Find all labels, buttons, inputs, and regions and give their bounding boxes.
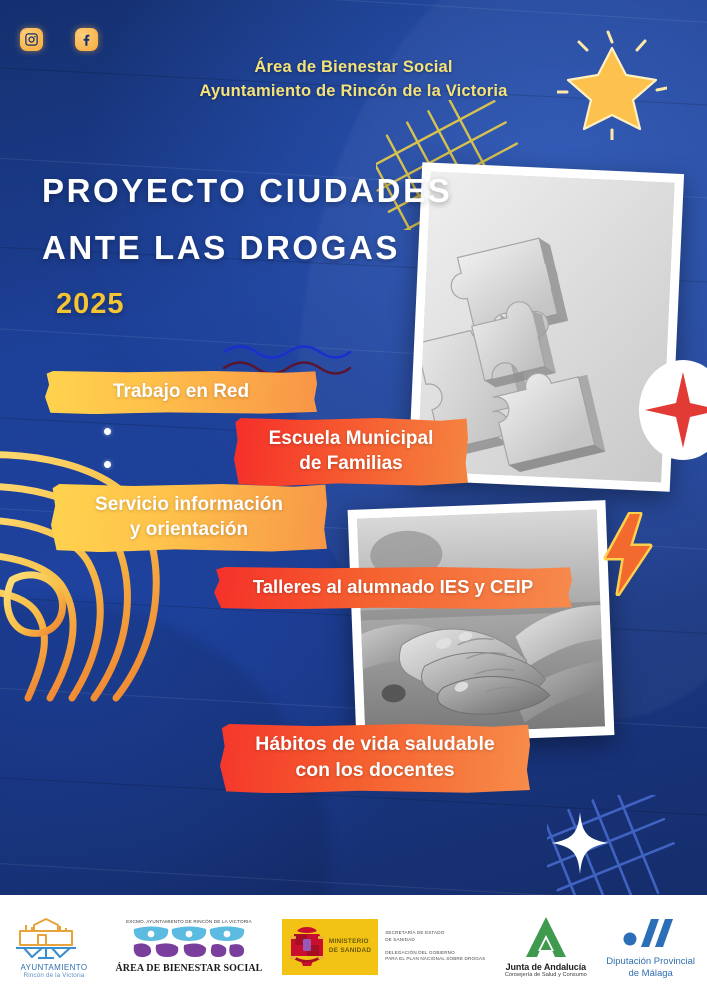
program-banner-servicio-informacion[interactable]: Servicio informacióny orientación: [51, 484, 327, 552]
area-bienestar-icon: [130, 925, 248, 961]
diputacion-malaga-icon: [623, 913, 679, 953]
junta-andalucia-icon: [525, 915, 567, 959]
ayuntamiento-crest-icon: [12, 915, 96, 961]
ministerio-name-line2: DE SANIDAD: [329, 947, 371, 956]
ayuntamiento-name: AYUNTAMIENTO: [20, 963, 87, 972]
bullet-dot: [104, 428, 111, 435]
program-banner-escuela-familias[interactable]: Escuela Municipalde Familias: [234, 418, 468, 486]
junta-sub: Consejería de Salud y Consumo: [505, 972, 587, 978]
delegacion-line2: PARA EL PLAN NACIONAL SOBRE DROGAS: [385, 956, 485, 962]
logo-junta-andalucia: Junta de Andalucía Consejería de Salud y…: [505, 915, 587, 978]
diputacion-line2: de Málaga: [606, 968, 695, 980]
logo-area-bienestar-social: EXCMO. AYUNTAMIENTO DE RINCÓN DE LA VICT…: [115, 919, 262, 974]
diputacion-name: Diputación Provincial de Málaga: [606, 956, 695, 981]
area-bienestar-top: EXCMO. AYUNTAMIENTO DE RINCÓN DE LA VICT…: [126, 919, 252, 924]
bullet-dots: [104, 428, 111, 494]
bullet-dot: [104, 461, 111, 468]
ayuntamiento-sub: Rincón de la Victoria: [24, 972, 85, 979]
facebook-icon[interactable]: [75, 28, 98, 51]
hands-photo: [348, 500, 615, 745]
ministerio-name-line1: MINISTERIO: [329, 938, 371, 947]
lightning-bolt-icon: [600, 512, 658, 596]
ministerio-sub-block: SECRETARÍA DE ESTADO DE SANIDAD DELEGACI…: [378, 919, 485, 975]
spain-coat-of-arms-icon: [289, 925, 325, 969]
footer-logos: AYUNTAMIENTO Rincón de la Victoria EXCMO…: [0, 895, 707, 1000]
program-banner-trabajo-en-red[interactable]: Trabajo en Red: [45, 371, 317, 414]
area-bienestar-name: ÁREA DE BIENESTAR SOCIAL: [115, 963, 262, 974]
ministerio-yellow-block: MINISTERIO DE SANIDAD: [282, 919, 378, 975]
hands-photo-image: [357, 509, 605, 735]
social-links: [20, 28, 98, 51]
program-banner-talleres-alumnado[interactable]: Talleres al alumnado IES y CEIP: [214, 567, 572, 609]
junta-name: Junta de Andalucía: [506, 962, 586, 972]
program-banner-habitos-saludables[interactable]: Hábitos de vida saludablecon los docente…: [220, 724, 530, 793]
logo-ministerio-sanidad: MINISTERIO DE SANIDAD SECRETARÍA DE ESTA…: [282, 919, 485, 975]
instagram-icon[interactable]: [20, 28, 43, 51]
diputacion-line1: Diputación Provincial: [606, 956, 695, 968]
logo-diputacion-malaga: Diputación Provincial de Málaga: [606, 913, 695, 981]
white-sparkle-icon: [552, 812, 608, 874]
logo-ayuntamiento-rincon: AYUNTAMIENTO Rincón de la Victoria: [12, 915, 96, 979]
secretaria-line2: DE SANIDAD: [385, 937, 485, 943]
poster: Área de Bienestar Social Ayuntamiento de…: [0, 0, 707, 1000]
star-icon: [557, 30, 667, 140]
secretaria-estado-text: SECRETARÍA DE ESTADO DE SANIDAD: [385, 930, 485, 943]
ministerio-name: MINISTERIO DE SANIDAD: [329, 938, 371, 956]
red-sparkle-icon: [637, 358, 707, 462]
delegacion-gobierno-text: DELEGACIÓN DEL GOBIERNO PARA EL PLAN NAC…: [385, 950, 485, 963]
